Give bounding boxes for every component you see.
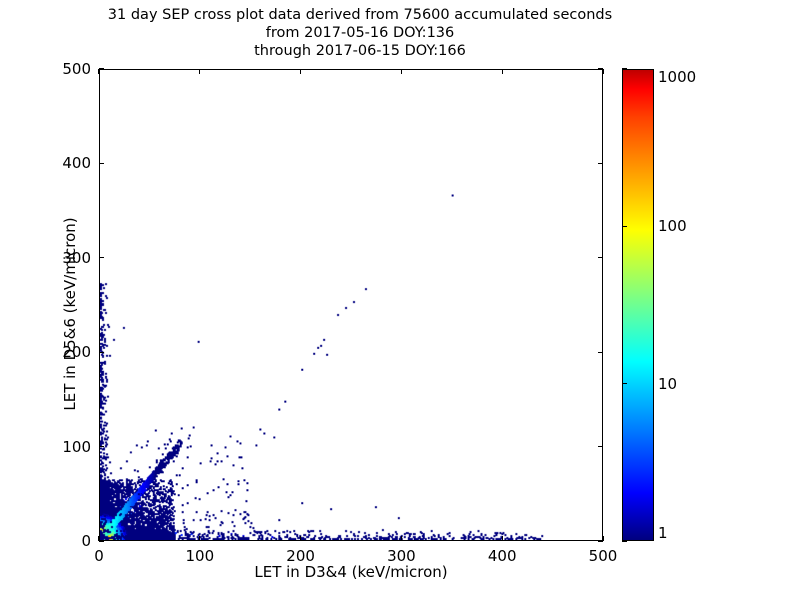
y-tick-mark-right xyxy=(598,68,603,69)
y-tick-mark xyxy=(99,68,104,69)
x-tick-mark-top xyxy=(199,69,200,74)
scatter-points-layer xyxy=(100,70,602,540)
y-tick-mark-right xyxy=(598,540,603,541)
chart-title: 31 day SEP cross plot data derived from … xyxy=(0,6,720,60)
y-tick-mark-right xyxy=(598,163,603,164)
y-tick-mark-right xyxy=(598,257,603,258)
title-line-3: through 2017-06-15 DOY:166 xyxy=(0,42,720,60)
x-axis-label: LET in D3&4 (keV/micron) xyxy=(99,563,603,581)
x-tick-mark xyxy=(199,536,200,541)
colorbar-tick-mark xyxy=(622,68,627,69)
y-axis-label: LET in D5&6 (keV/micron) xyxy=(61,78,79,550)
colorbar-tick-label: 10 xyxy=(658,375,677,393)
x-tick-mark xyxy=(401,536,402,541)
colorbar-gradient xyxy=(622,69,654,541)
x-tick-mark-top xyxy=(98,69,99,74)
x-tick-mark xyxy=(502,536,503,541)
title-line-1: 31 day SEP cross plot data derived from … xyxy=(0,6,720,24)
colorbar-tick-label: 1 xyxy=(658,524,668,542)
y-tick-mark xyxy=(99,257,104,258)
colorbar-tick-mark xyxy=(622,383,627,384)
colorbar-tick-mark xyxy=(622,226,627,227)
y-tick-mark xyxy=(99,163,104,164)
figure-root: 31 day SEP cross plot data derived from … xyxy=(0,0,800,600)
y-tick-mark xyxy=(99,540,104,541)
y-tick-mark-right xyxy=(598,352,603,353)
colorbar-tick-label: 100 xyxy=(658,217,687,235)
plot-area xyxy=(99,69,603,541)
y-tick-mark xyxy=(99,352,104,353)
x-tick-mark xyxy=(300,536,301,541)
colorbar: 1101001000 xyxy=(622,69,654,541)
title-line-2: from 2017-05-16 DOY:136 xyxy=(0,24,720,42)
x-tick-mark-top xyxy=(401,69,402,74)
y-tick-label: 500 xyxy=(37,60,91,78)
y-tick-mark xyxy=(99,446,104,447)
x-tick-mark-top xyxy=(300,69,301,74)
y-tick-mark-right xyxy=(598,446,603,447)
colorbar-tick-label: 1000 xyxy=(658,68,696,86)
x-tick-mark-top xyxy=(502,69,503,74)
x-tick-mark-top xyxy=(602,69,603,74)
colorbar-tick-mark xyxy=(622,540,627,541)
